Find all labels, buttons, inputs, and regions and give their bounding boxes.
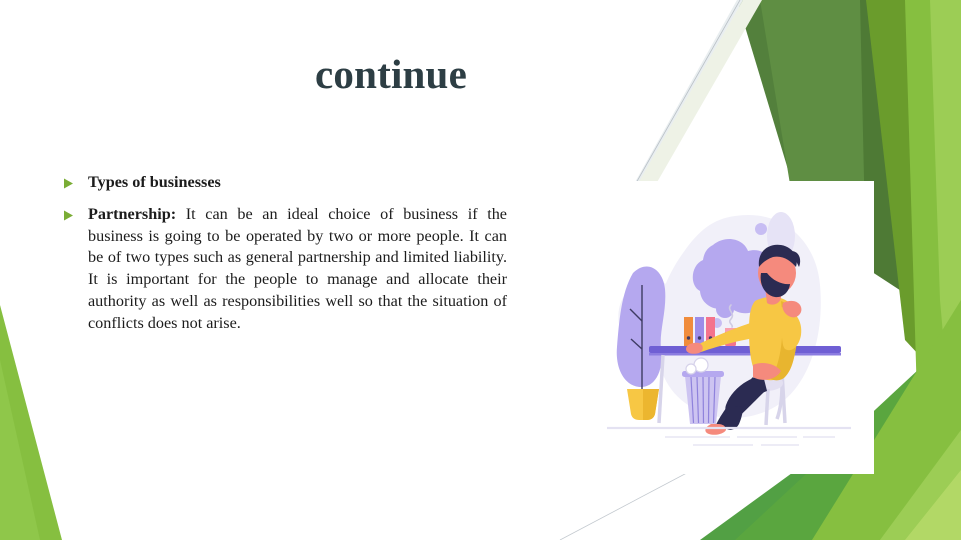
list-item-lead: Partnership:: [88, 205, 176, 223]
deco-hairline-stroke-bottom: [560, 466, 700, 540]
content-body: Types of businesses Partnership: It can …: [55, 172, 507, 345]
list-item: Partnership: It can be an ideal choice o…: [55, 204, 507, 335]
page-title: continue: [55, 52, 727, 97]
list-item-text: Partnership: It can be an ideal choice o…: [88, 204, 507, 335]
deco-shape-bottomright-light: [880, 430, 961, 540]
list-item: Types of businesses: [55, 172, 507, 194]
deco-shape-topright-mid: [860, 0, 961, 330]
title-container: continue: [55, 52, 727, 97]
deco-shape-topright-pale: [930, 0, 961, 540]
triangle-right-bullet-icon: [55, 172, 88, 189]
deco-shape-bottomleft-wedge-light: [0, 360, 40, 540]
deco-shape-topright-grass: [866, 0, 961, 400]
deco-shape-bottomright-pale: [905, 470, 961, 540]
deco-shape-topright-bright: [905, 0, 961, 540]
slide-canvas: continue Types of businesses Partnership…: [0, 0, 961, 540]
triangle-right-bullet-icon: [55, 204, 88, 221]
list-item-body: It can be an ideal choice of business if…: [88, 205, 507, 332]
man-at-desk-on-phone-illustration: [585, 181, 874, 474]
illustration-card: [585, 181, 874, 474]
list-item-text: Types of businesses: [88, 172, 507, 194]
deco-shape-bottomleft-wedge: [0, 305, 62, 540]
